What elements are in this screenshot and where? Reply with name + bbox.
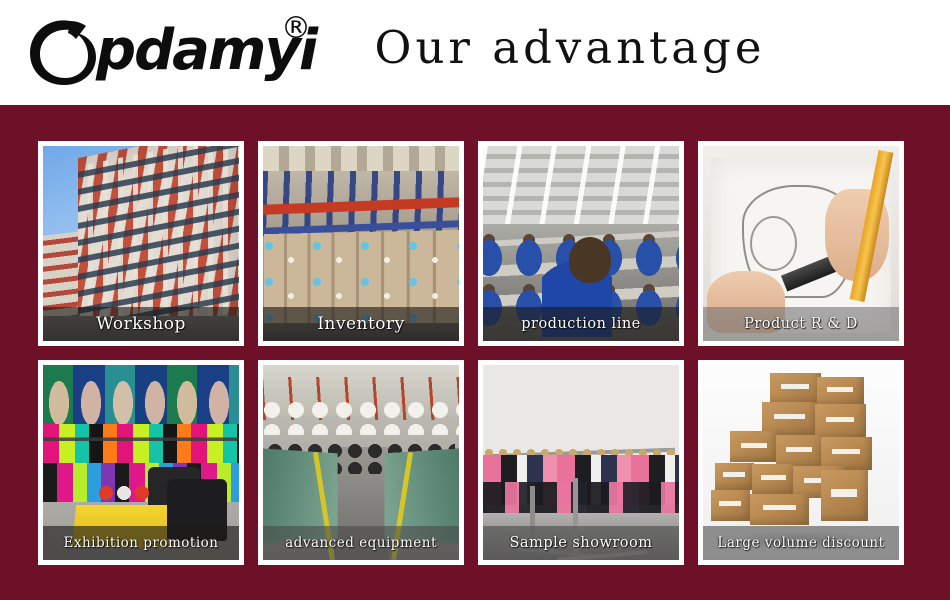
advantage-tile[interactable]: advanced equipment bbox=[258, 360, 464, 565]
tile-caption: production line bbox=[483, 307, 679, 341]
tile-caption: Sample showroom bbox=[483, 526, 679, 560]
sample-clothing-racks-photo: Sample showroom bbox=[483, 365, 679, 560]
page-header: pdamyi ® Our advantage bbox=[0, 0, 950, 105]
workshop-building-photo: Workshop bbox=[43, 146, 239, 341]
tile-caption: Product R & D bbox=[703, 307, 899, 341]
advantage-tile[interactable]: Inventory bbox=[258, 141, 464, 346]
tile-caption: advanced equipment bbox=[263, 526, 459, 560]
tile-caption: Workshop bbox=[43, 307, 239, 341]
advantage-tile[interactable]: Sample showroom bbox=[478, 360, 684, 565]
advantage-tile[interactable]: Workshop bbox=[38, 141, 244, 346]
advantage-tile[interactable]: Product R & D bbox=[698, 141, 904, 346]
tile-caption: Large volume discount bbox=[703, 526, 899, 560]
advantage-banner: pdamyi ® Our advantage Workshop bbox=[0, 0, 950, 600]
tile-caption: Exhibition promotion bbox=[43, 526, 239, 560]
stacked-cartons-photo: Large volume discount bbox=[703, 365, 899, 560]
brand-logo[interactable]: pdamyi ® bbox=[22, 8, 322, 93]
tile-caption: Inventory bbox=[263, 307, 459, 341]
knitting-machines-photo: advanced equipment bbox=[263, 365, 459, 560]
trade-show-booth-photo: Exhibition promotion bbox=[43, 365, 239, 560]
registered-trademark-icon: ® bbox=[281, 14, 311, 44]
advantage-panel: Workshop Inventory bbox=[0, 105, 950, 600]
advantage-tile[interactable]: Large volume discount bbox=[698, 360, 904, 565]
advantage-tile-grid: Workshop Inventory bbox=[38, 141, 912, 565]
page-title: Our advantage bbox=[340, 16, 800, 80]
sewing-production-line-photo: production line bbox=[483, 146, 679, 341]
design-sketch-photo: Product R & D bbox=[703, 146, 899, 341]
advantage-tile[interactable]: Exhibition promotion bbox=[38, 360, 244, 565]
opdamyi-swirl-logo-icon bbox=[26, 17, 106, 87]
warehouse-inventory-photo: Inventory bbox=[263, 146, 459, 341]
advantage-tile[interactable]: production line bbox=[478, 141, 684, 346]
